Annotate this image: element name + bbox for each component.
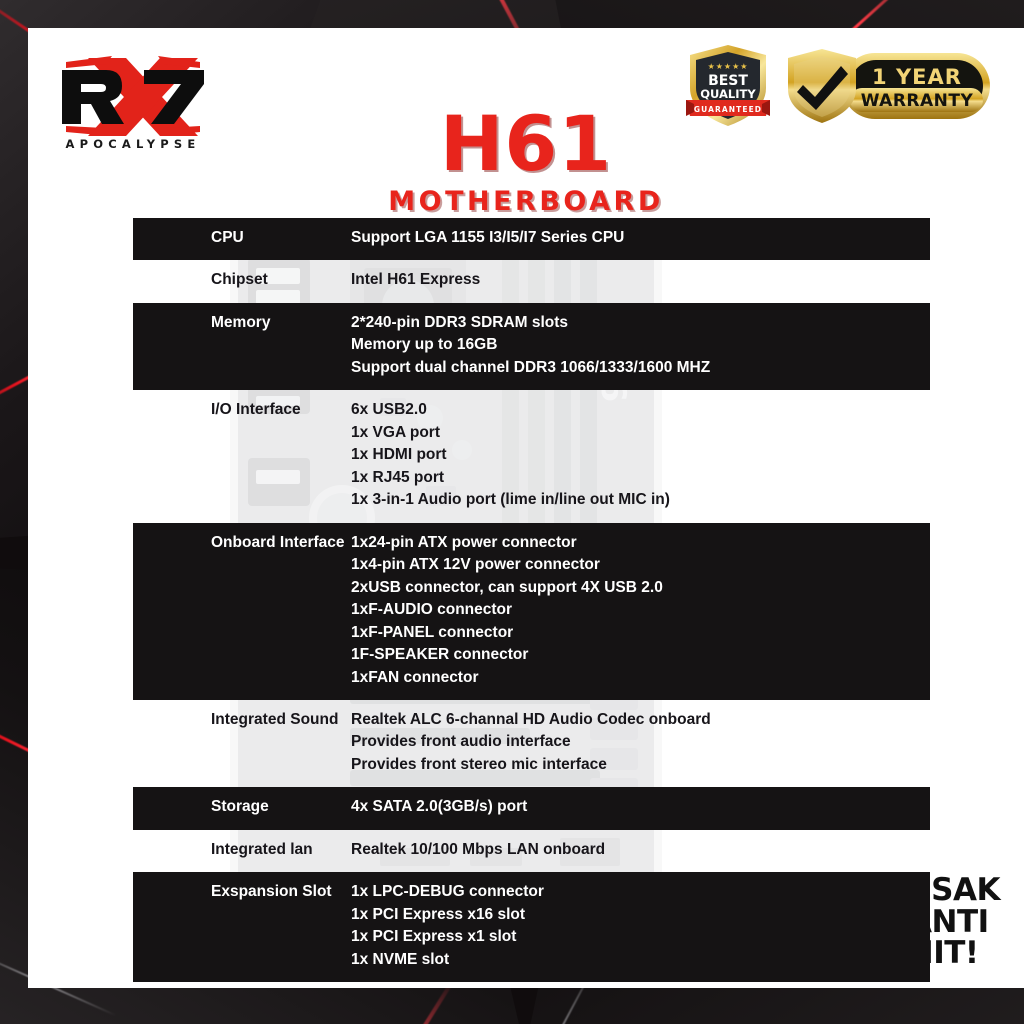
spec-value: 2*240-pin DDR3 SDRAM slots Memory up to … xyxy=(351,312,930,379)
table-row: Storage 4x SATA 2.0(3GB/s) port xyxy=(133,787,930,829)
spec-label: Chipset xyxy=(133,269,351,291)
spec-label: Memory xyxy=(133,312,351,334)
table-row: Chipset Intel H61 Express xyxy=(133,260,930,302)
spec-label: Storage xyxy=(133,796,351,818)
spec-value: 1x LPC-DEBUG connector 1x PCI Express x1… xyxy=(351,881,930,971)
spec-value: Realtek 10/100 Mbps LAN onboard xyxy=(351,839,930,861)
table-row: CPU Support LGA 1155 I3/I5/I7 Series CPU xyxy=(133,218,930,260)
svg-text:QUALITY: QUALITY xyxy=(700,87,756,101)
table-row: Memory 2*240-pin DDR3 SDRAM slots Memory… xyxy=(133,303,930,390)
table-row: Integrated lan Realtek 10/100 Mbps LAN o… xyxy=(133,830,930,872)
svg-text:★★★★★: ★★★★★ xyxy=(708,62,749,71)
spec-label: Exspansion Slot xyxy=(133,881,351,903)
spec-value: 6x USB2.0 1x VGA port 1x HDMI port 1x RJ… xyxy=(351,399,930,511)
table-row: I/O Interface 6x USB2.0 1x VGA port 1x H… xyxy=(133,390,930,522)
spec-label: Integrated lan xyxy=(133,839,351,861)
spec-value: 4x SATA 2.0(3GB/s) port xyxy=(351,796,930,818)
title-block: H61 MOTHERBOARD xyxy=(28,106,1024,215)
svg-text:1 YEAR: 1 YEAR xyxy=(872,65,962,89)
spec-label: CPU xyxy=(133,227,351,249)
spec-value: Support LGA 1155 I3/I5/I7 Series CPU xyxy=(351,227,930,249)
table-row: Onboard Interface 1x24-pin ATX power con… xyxy=(133,523,930,700)
spec-value: Realtek ALC 6-channal HD Audio Codec onb… xyxy=(351,709,930,776)
spec-label: Integrated Sound xyxy=(133,709,351,731)
table-row: Integrated Sound Realtek ALC 6-channal H… xyxy=(133,700,930,787)
spec-label: I/O Interface xyxy=(133,399,351,421)
spec-value: 1x24-pin ATX power connector 1x4-pin ATX… xyxy=(351,532,930,689)
table-row: Dimension Micro-ATX architecture (17*19c… xyxy=(133,982,930,988)
spec-value: Intel H61 Express xyxy=(351,269,930,291)
page-subtitle: MOTHERBOARD xyxy=(28,188,1024,215)
table-row: Exspansion Slot 1x LPC-DEBUG connector 1… xyxy=(133,872,930,982)
spec-label: Onboard Interface xyxy=(133,532,351,554)
page-title: H61 xyxy=(28,106,1024,182)
product-spec-card: APOCALYPSE ★★★★★ BEST QUALITY GUARANTEED xyxy=(28,28,1024,988)
specifications-table: CPU Support LGA 1155 I3/I5/I7 Series CPU… xyxy=(133,218,930,988)
